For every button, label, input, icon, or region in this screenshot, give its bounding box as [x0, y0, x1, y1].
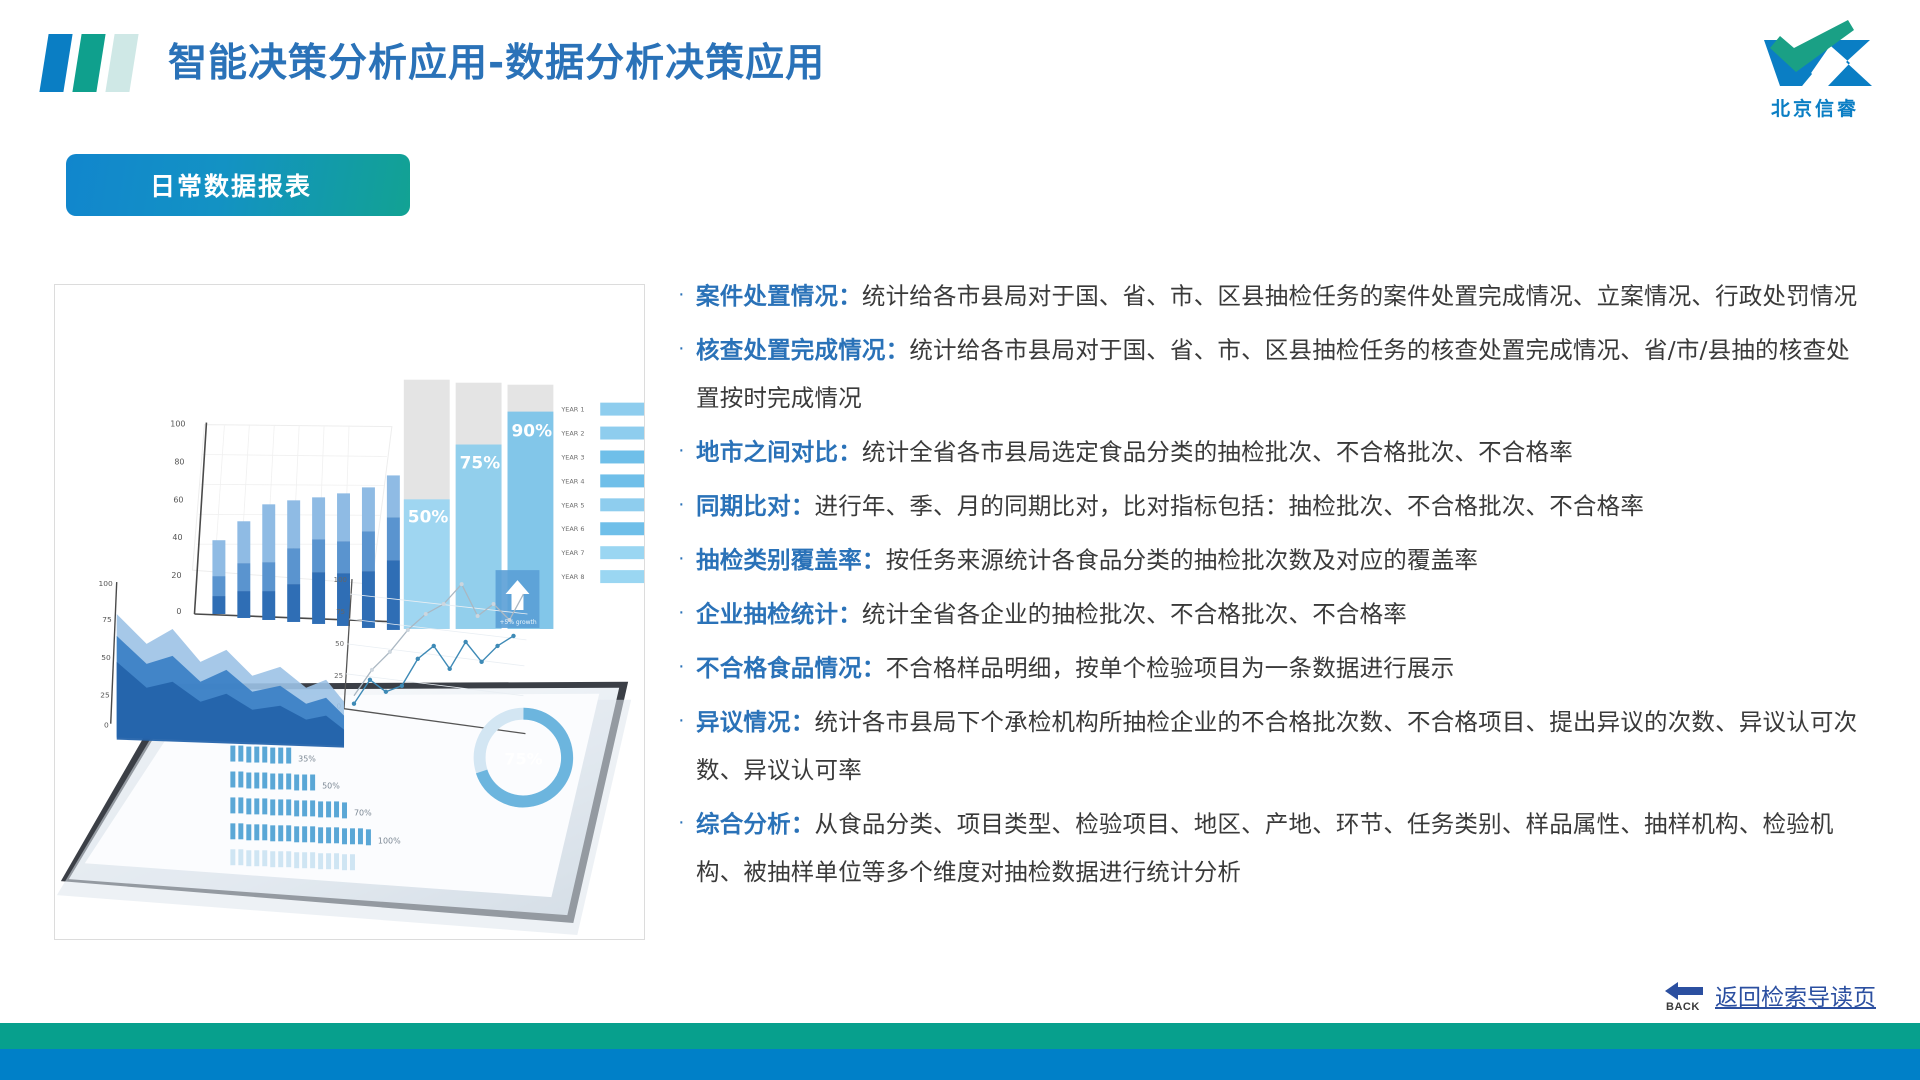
- svg-text:YEAR 8: YEAR 8: [560, 573, 584, 581]
- bullet-desc: 从食品分类、项目类型、检验项目、地区、产地、环节、任务类别、样品属性、抽样机构、…: [696, 810, 1834, 886]
- bullet-text: 同期比对：进行年、季、月的同期比对，比对指标包括：抽检批次、不合格批次、不合格率: [696, 482, 1644, 530]
- list-item: · 企业抽检统计：统计全省各企业的抽检批次、不合格批次、不合格率: [678, 590, 1863, 638]
- svg-text:YEAR 1: YEAR 1: [560, 406, 584, 414]
- bullet-colon: ：: [862, 654, 886, 682]
- bullet-desc: 不合格样品明细，按单个检验项目为一条数据进行展示: [886, 654, 1455, 682]
- slide-canvas: 智能决策分析应用-数据分析决策应用 北京信睿 日常数据报表: [0, 0, 1920, 1080]
- svg-text:YEAR 3: YEAR 3: [560, 453, 584, 461]
- bullet-colon: ：: [791, 492, 815, 520]
- svg-text:100: 100: [98, 579, 113, 588]
- svg-text:YEAR 6: YEAR 6: [560, 525, 584, 533]
- bullet-text: 综合分析：从食品分类、项目类型、检验项目、地区、产地、环节、任务类别、样品属性、…: [696, 800, 1863, 896]
- svg-text:70%: 70%: [354, 808, 372, 817]
- svg-text:25: 25: [100, 691, 110, 700]
- bullet-text: 抽检类别覆盖率：按任务来源统计各食品分类的抽检批次数及对应的覆盖率: [696, 536, 1478, 584]
- svg-text:35%: 35%: [298, 755, 316, 764]
- bullet-dot-icon: ·: [678, 642, 696, 690]
- svg-text:0: 0: [176, 607, 181, 616]
- back-arrow-icon[interactable]: BACK: [1665, 980, 1707, 1010]
- list-item: · 抽检类别覆盖率：按任务来源统计各食品分类的抽检批次数及对应的覆盖率: [678, 536, 1863, 584]
- logo-company-name: 北京信睿: [1750, 94, 1880, 121]
- svg-text:+5% growth: +5% growth: [500, 619, 537, 626]
- data-visualization-illustration: 100 80 60 40 20 0: [54, 284, 645, 940]
- back-link-label[interactable]: 返回检索导读页: [1715, 978, 1876, 1012]
- svg-text:YEAR 4: YEAR 4: [560, 477, 584, 485]
- feature-bullet-list: · 案件处置情况：统计给各市县局对于国、省、市、区县抽检任务的案件处置完成情况、…: [678, 272, 1863, 902]
- svg-text:50%: 50%: [322, 781, 340, 790]
- bullet-colon: ：: [838, 282, 862, 310]
- bullet-text: 核查处置完成情况：统计给各市县局对于国、省、市、区县抽检任务的核查处置完成情况、…: [696, 326, 1863, 422]
- svg-text:75%: 75%: [460, 452, 501, 472]
- bullet-text: 案件处置情况：统计给各市县局对于国、省、市、区县抽检任务的案件处置完成情况、立案…: [696, 272, 1857, 320]
- bullet-desc: 统计全省各市县局选定食品分类的抽检批次、不合格批次、不合格率: [862, 438, 1573, 466]
- bullet-term: 企业抽检统计: [696, 600, 838, 628]
- back-navigation-link[interactable]: BACK 返回检索导读页: [1665, 978, 1876, 1012]
- svg-text:80: 80: [174, 457, 184, 466]
- bullet-desc: 进行年、季、月的同期比对，比对指标包括：抽检批次、不合格批次、不合格率: [815, 492, 1645, 520]
- bullet-term: 不合格食品情况: [696, 654, 862, 682]
- svg-text:50: 50: [101, 653, 111, 662]
- footer-bar-teal: [0, 1023, 1920, 1049]
- bullet-dot-icon: ·: [678, 588, 696, 636]
- svg-text:90%: 90%: [512, 421, 553, 441]
- list-item: · 地市之间对比：统计全省各市县局选定食品分类的抽检批次、不合格批次、不合格率: [678, 428, 1863, 476]
- bullet-desc: 按任务来源统计各食品分类的抽检批次数及对应的覆盖率: [886, 546, 1479, 574]
- bullet-term: 异议情况: [696, 708, 791, 736]
- svg-text:100: 100: [170, 420, 185, 429]
- bullet-term: 同期比对: [696, 492, 791, 520]
- bullet-term: 地市之间对比: [696, 438, 838, 466]
- svg-text:75: 75: [336, 608, 345, 616]
- bullet-dot-icon: ·: [678, 696, 696, 744]
- list-item: · 不合格食品情况：不合格样品明细，按单个检验项目为一条数据进行展示: [678, 644, 1863, 692]
- svg-text:20: 20: [171, 571, 181, 580]
- bullet-colon: ：: [791, 810, 815, 838]
- svg-text:0: 0: [104, 721, 109, 730]
- list-item: · 综合分析：从食品分类、项目类型、检验项目、地区、产地、环节、任务类别、样品属…: [678, 800, 1863, 896]
- list-item: · 案件处置情况：统计给各市县局对于国、省、市、区县抽检任务的案件处置完成情况、…: [678, 272, 1863, 320]
- header-accent-bars: [44, 34, 134, 92]
- bullet-colon: ：: [886, 336, 910, 364]
- bullet-term: 抽检类别覆盖率: [696, 546, 862, 574]
- list-item: · 异议情况：统计各市县局下个承检机构所抽检企业的不合格批次数、不合格项目、提出…: [678, 698, 1863, 794]
- accent-bar-blue: [39, 34, 72, 92]
- left-arrow-icon: [1665, 981, 1705, 1001]
- bullet-colon: ：: [838, 600, 862, 628]
- bullet-dot-icon: ·: [678, 270, 696, 318]
- xr-logo-icon: [1750, 18, 1880, 92]
- svg-text:YEAR 7: YEAR 7: [560, 549, 584, 557]
- company-logo: 北京信睿: [1750, 18, 1880, 114]
- section-badge-label: 日常数据报表: [150, 167, 312, 203]
- back-icon-caption: BACK: [1666, 1001, 1700, 1013]
- section-badge[interactable]: 日常数据报表: [66, 154, 410, 216]
- list-item: · 同期比对：进行年、季、月的同期比对，比对指标包括：抽检批次、不合格批次、不合…: [678, 482, 1863, 530]
- svg-text:100: 100: [334, 576, 347, 584]
- bullet-colon: ：: [791, 708, 815, 736]
- illustration-graphic: 100 80 60 40 20 0: [55, 285, 644, 939]
- svg-text:50%: 50%: [408, 506, 449, 526]
- bullet-colon: ：: [862, 546, 886, 574]
- bullet-text: 异议情况：统计各市县局下个承检机构所抽检企业的不合格批次数、不合格项目、提出异议…: [696, 698, 1863, 794]
- footer-bar-blue: [0, 1049, 1920, 1080]
- growth-badge: +5% growth: [496, 570, 540, 628]
- bullet-term: 案件处置情况: [696, 282, 838, 310]
- svg-text:40: 40: [172, 533, 182, 542]
- bullet-dot-icon: ·: [678, 480, 696, 528]
- svg-text:100%: 100%: [378, 836, 401, 845]
- bullet-desc: 统计各市县局下个承检机构所抽检企业的不合格批次数、不合格项目、提出异议的次数、异…: [696, 708, 1857, 784]
- svg-text:50: 50: [335, 640, 344, 648]
- svg-text:YEAR 5: YEAR 5: [560, 501, 584, 509]
- accent-bar-green: [72, 34, 105, 92]
- bullet-term: 核查处置完成情况: [696, 336, 886, 364]
- bullet-dot-icon: ·: [678, 534, 696, 582]
- bullet-dot-icon: ·: [678, 798, 696, 846]
- svg-text:75%: 75%: [504, 750, 542, 769]
- bullet-dot-icon: ·: [678, 426, 696, 474]
- svg-text:75: 75: [102, 615, 112, 624]
- bullet-text: 企业抽检统计：统计全省各企业的抽检批次、不合格批次、不合格率: [696, 590, 1407, 638]
- svg-text:60: 60: [173, 495, 183, 504]
- bullet-desc: 统计全省各企业的抽检批次、不合格批次、不合格率: [862, 600, 1407, 628]
- bullet-colon: ：: [838, 438, 862, 466]
- bullet-text: 地市之间对比：统计全省各市县局选定食品分类的抽检批次、不合格批次、不合格率: [696, 428, 1573, 476]
- svg-text:25: 25: [334, 672, 343, 680]
- bullet-text: 不合格食品情况：不合格样品明细，按单个检验项目为一条数据进行展示: [696, 644, 1454, 692]
- accent-bar-light: [105, 34, 138, 92]
- bullet-desc: 统计给各市县局对于国、省、市、区县抽检任务的案件处置完成情况、立案情况、行政处罚…: [862, 282, 1857, 310]
- bullet-dot-icon: ·: [678, 324, 696, 372]
- bullet-term: 综合分析: [696, 810, 791, 838]
- page-title: 智能决策分析应用-数据分析决策应用: [168, 32, 825, 88]
- svg-text:YEAR 2: YEAR 2: [560, 430, 584, 438]
- list-item: · 核查处置完成情况：统计给各市县局对于国、省、市、区县抽检任务的核查处置完成情…: [678, 326, 1863, 422]
